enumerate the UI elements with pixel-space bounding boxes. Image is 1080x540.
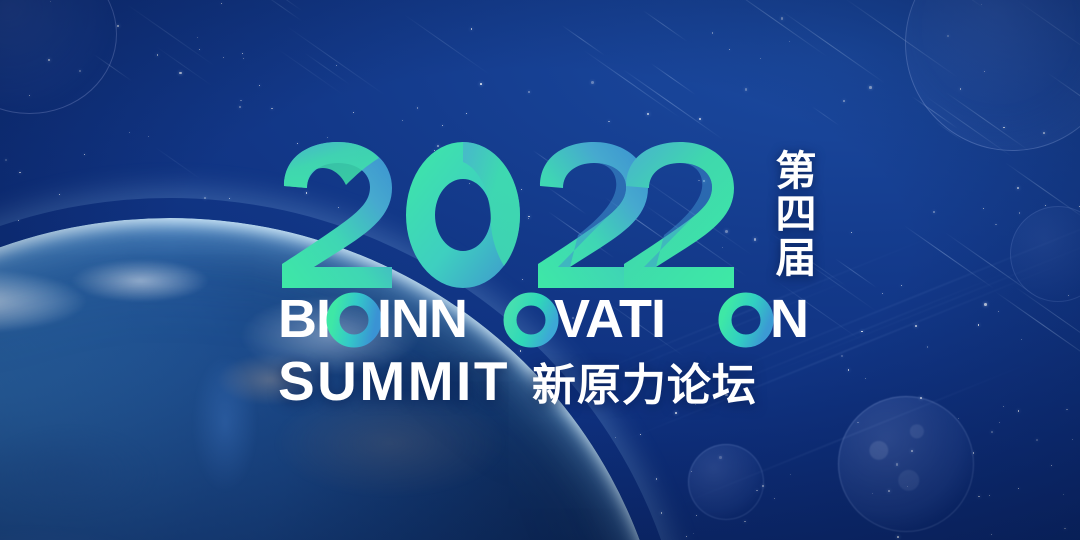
year-2022 bbox=[278, 140, 838, 290]
svg-text:INN: INN bbox=[377, 292, 467, 348]
year-digit-2c bbox=[624, 142, 734, 288]
logo-lockup: BI INN VATI N SUMMIT bbox=[278, 140, 838, 410]
letter-o-ring-3 bbox=[725, 299, 767, 341]
year-digit-0 bbox=[406, 142, 520, 288]
wordmark-bioinnovation: BI INN VATI N bbox=[278, 292, 838, 348]
svg-text:BI: BI bbox=[278, 292, 330, 348]
event-poster: 第 四 届 bbox=[0, 0, 1080, 540]
svg-text:N: N bbox=[770, 292, 808, 348]
wordmark-summit: SUMMIT bbox=[278, 352, 510, 410]
svg-text:VATI: VATI bbox=[554, 292, 665, 348]
year-digit-2a bbox=[282, 142, 392, 288]
letter-o-ring-2 bbox=[510, 299, 552, 341]
letter-o-ring-1 bbox=[333, 299, 375, 341]
subtitle-chinese: 新原力论坛 bbox=[532, 357, 757, 415]
wordmark-summit-row: SUMMIT 新原力论坛 bbox=[278, 352, 838, 410]
